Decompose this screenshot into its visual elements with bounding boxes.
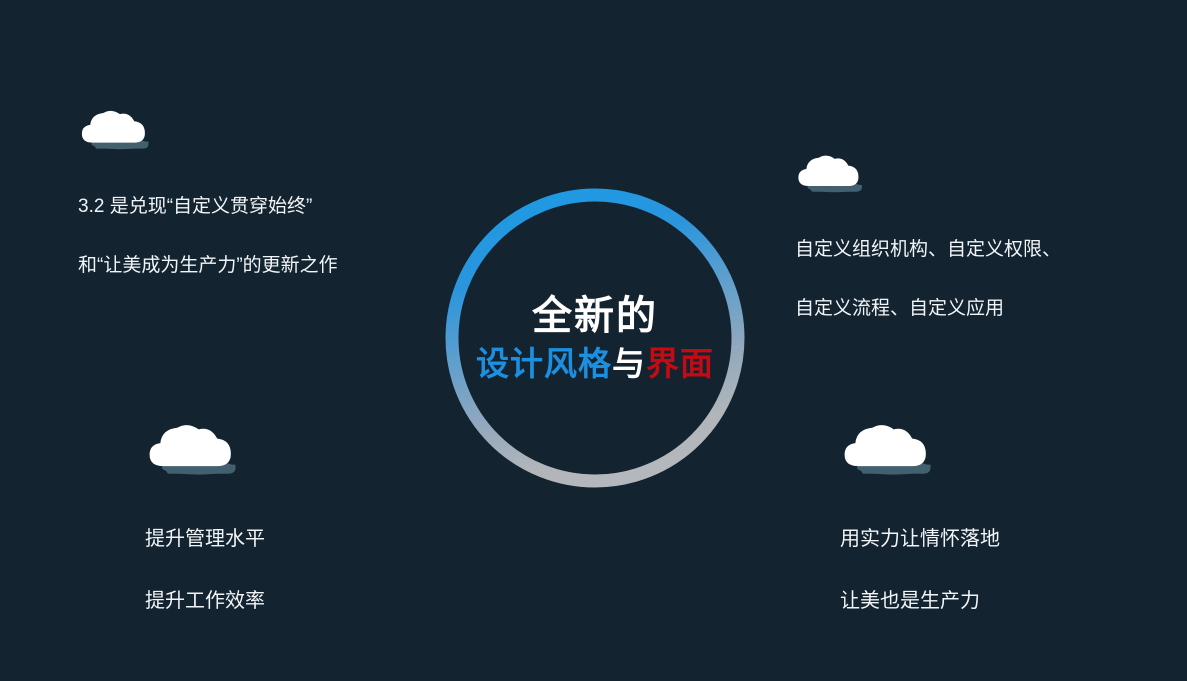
callout-top-right-text: 自定义组织机构、自定义权限、 自定义流程、自定义应用 — [795, 206, 1061, 353]
cloud-icon — [840, 420, 932, 477]
center-ring — [445, 188, 745, 488]
cloud-icon — [145, 420, 237, 477]
callout-top-right: 自定义组织机构、自定义权限、 自定义流程、自定义应用 — [795, 152, 1061, 353]
callout-line: 提升工作效率 — [145, 586, 265, 617]
callout-line: 提升管理水平 — [145, 524, 265, 555]
callout-line: 自定义流程、自定义应用 — [795, 294, 1061, 323]
callout-line: 用实力让情怀落地 — [840, 524, 1000, 555]
callout-line: 和“让美成为生产力”的更新之作 — [78, 251, 338, 280]
callout-line: 自定义组织机构、自定义权限、 — [795, 235, 1061, 264]
slide-canvas: 全新的 设计风格与界面 3.2 是兑现“自定义贯穿始终” 和“让美成为生产力”的… — [0, 0, 1187, 681]
callout-line: 3.2 是兑现“自定义贯穿始终” — [78, 192, 338, 221]
cloud-icon — [795, 152, 863, 194]
callout-top-left-text: 3.2 是兑现“自定义贯穿始终” 和“让美成为生产力”的更新之作 — [78, 163, 338, 310]
callout-bottom-left-text: 提升管理水平 提升工作效率 — [145, 493, 265, 648]
callout-top-left: 3.2 是兑现“自定义贯穿始终” 和“让美成为生产力”的更新之作 — [78, 107, 338, 310]
callout-bottom-right: 用实力让情怀落地 让美也是生产力 — [840, 420, 1000, 648]
callout-bottom-left: 提升管理水平 提升工作效率 — [145, 420, 265, 648]
callout-bottom-right-text: 用实力让情怀落地 让美也是生产力 — [840, 493, 1000, 648]
cloud-icon — [78, 107, 150, 151]
callout-line: 让美也是生产力 — [840, 586, 1000, 617]
